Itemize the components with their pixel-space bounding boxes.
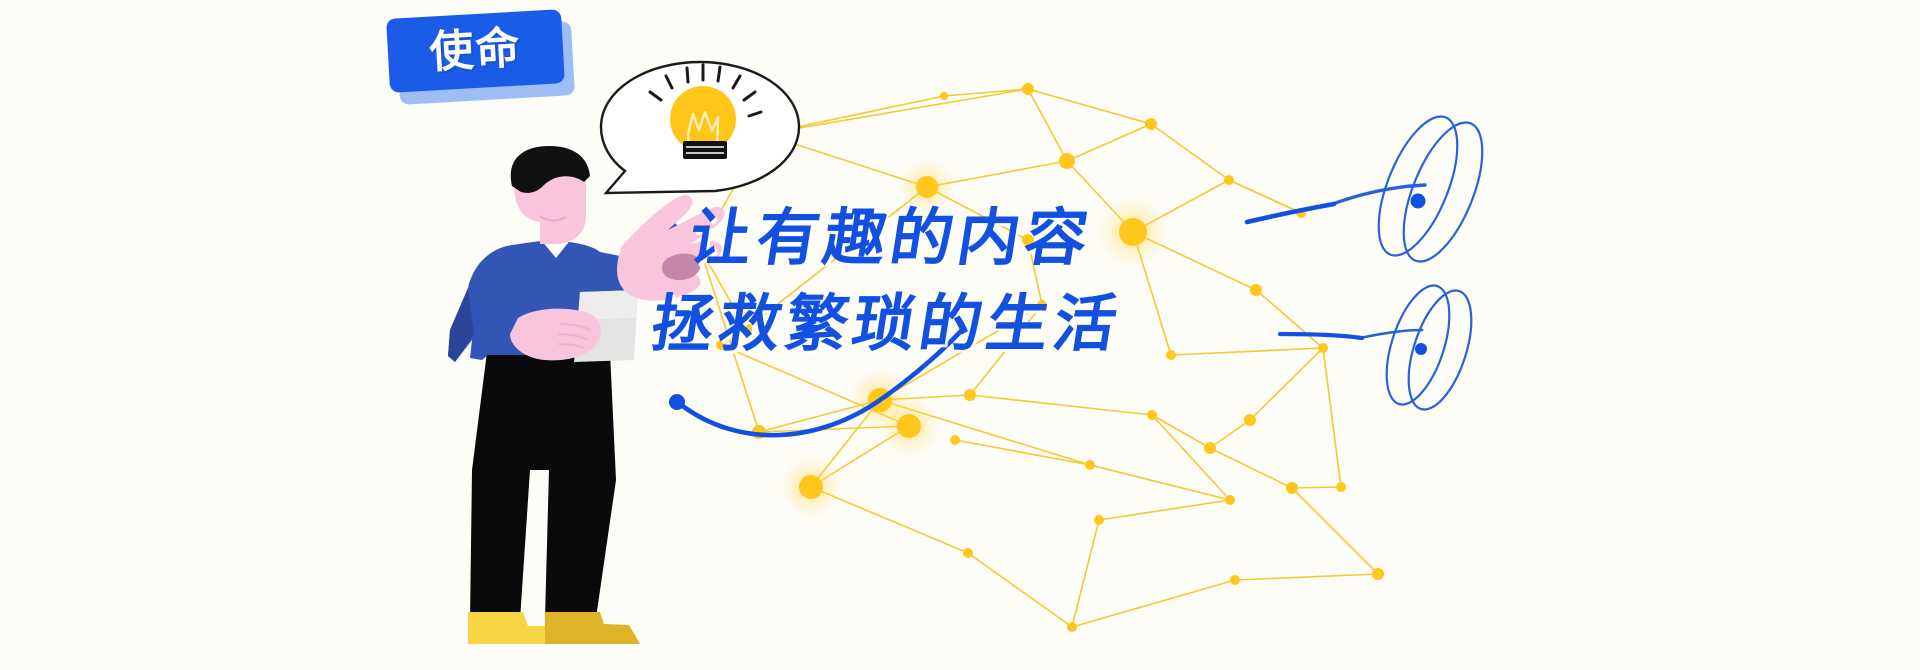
character-shoes xyxy=(468,612,640,644)
mission-badge-label: 使命 xyxy=(428,26,522,75)
mission-badge[interactable]: 使命 xyxy=(388,14,563,88)
headline-line-1: 让有趣的内容 xyxy=(683,196,1397,282)
mission-banner: 使命 让有趣的内容 拯救繁琐的生活 xyxy=(0,0,1920,670)
character-head xyxy=(511,146,590,244)
mission-badge-card[interactable]: 使命 xyxy=(386,9,565,93)
headline-line-2: 拯救繁琐的生活 xyxy=(645,282,1397,368)
character-pants xyxy=(470,352,616,620)
headline: 让有趣的内容 拯救繁琐的生活 xyxy=(690,196,1390,367)
